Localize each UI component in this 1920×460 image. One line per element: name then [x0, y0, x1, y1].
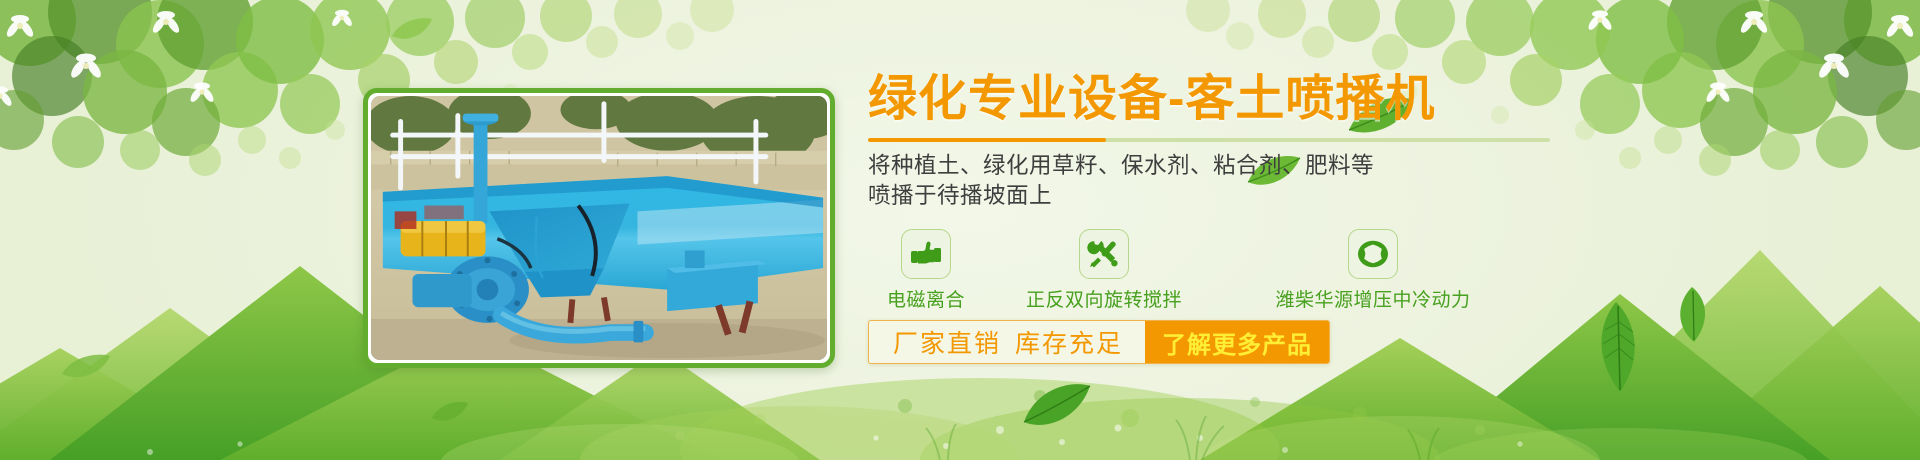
learn-more-button[interactable]: 了解更多产品 — [1145, 321, 1329, 363]
flower-cluster — [0, 10, 354, 108]
title-divider — [868, 138, 1550, 142]
feature-label: 潍柴华源增压中冷动力 — [1250, 285, 1496, 312]
product-photo — [371, 96, 827, 360]
divider-accent-segment — [868, 138, 1106, 142]
cta-tagline: 厂家直销 库存充足 — [869, 321, 1145, 363]
feature-item-weichai-power[interactable]: 潍柴华源增压中冷动力 — [1250, 229, 1496, 312]
cta-tagline-2: 库存充足 — [1015, 324, 1123, 360]
cta-tagline-1: 厂家直销 — [893, 324, 1001, 360]
promo-banner: 绿化专业设备-客土喷播机 将种植土、绿化用草籽、保水剂、粘合剂、肥料等 喷播于待… — [0, 0, 1920, 460]
feature-item-bidirectional-mixing[interactable]: 正反双向旋转搅拌 — [1006, 229, 1202, 312]
feature-label: 正反双向旋转搅拌 — [1006, 285, 1202, 312]
thumbs-up-icon — [901, 229, 951, 279]
feature-item-electromagnetic-clutch[interactable]: 电磁离合 — [878, 229, 974, 312]
banner-content: 绿化专业设备-客土喷播机 将种植土、绿化用草籽、保水剂、粘合剂、肥料等 喷播于待… — [868, 74, 1568, 307]
subtitle-line-2: 喷播于待播坡面上 — [868, 181, 1568, 211]
product-photo-frame — [363, 88, 835, 368]
feature-label: 电磁离合 — [878, 285, 974, 312]
page-title: 绿化专业设备-客土喷播机 — [868, 74, 1568, 125]
tools-icon — [1079, 229, 1129, 279]
hydroseeder-machine-image — [371, 96, 827, 360]
feature-list: 电磁离合 正反双向旋转搅拌 — [868, 229, 1568, 307]
leaf-icon — [390, 16, 434, 44]
gear-icon — [1348, 229, 1398, 279]
subtitle-line-1: 将种植土、绿化用草籽、保水剂、粘合剂、肥料等 — [868, 151, 1568, 181]
banner-subtitle: 将种植土、绿化用草籽、保水剂、粘合剂、肥料等 喷播于待播坡面上 — [868, 151, 1568, 211]
cta-bar: 厂家直销 库存充足 了解更多产品 — [868, 320, 1330, 364]
